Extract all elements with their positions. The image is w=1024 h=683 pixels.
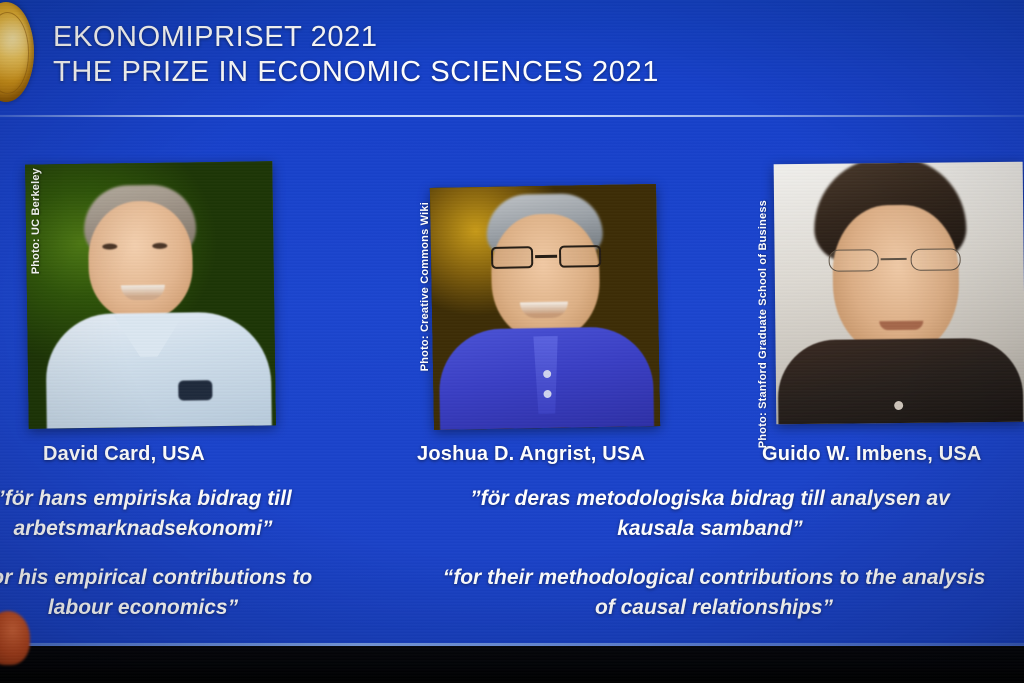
citation-pair-swedish: ”för deras metodologiska bidrag till ana… [410, 484, 1010, 544]
header-divider-line [0, 115, 1024, 117]
citation-pair-english: “for their methodological contributions … [398, 563, 1024, 623]
citation-card-english: “for his empirical contributions to labo… [0, 563, 328, 623]
darkened-room-strip [0, 646, 1024, 683]
citations-block: ”för hans empiriska bidrag till arbetsma… [0, 0, 1024, 683]
citation-card-swedish: ”för hans empiriska bidrag till arbetsma… [0, 484, 328, 544]
presentation-slide: EKONOMIPRISET 2021 THE PRIZE IN ECONOMIC… [0, 0, 1024, 683]
